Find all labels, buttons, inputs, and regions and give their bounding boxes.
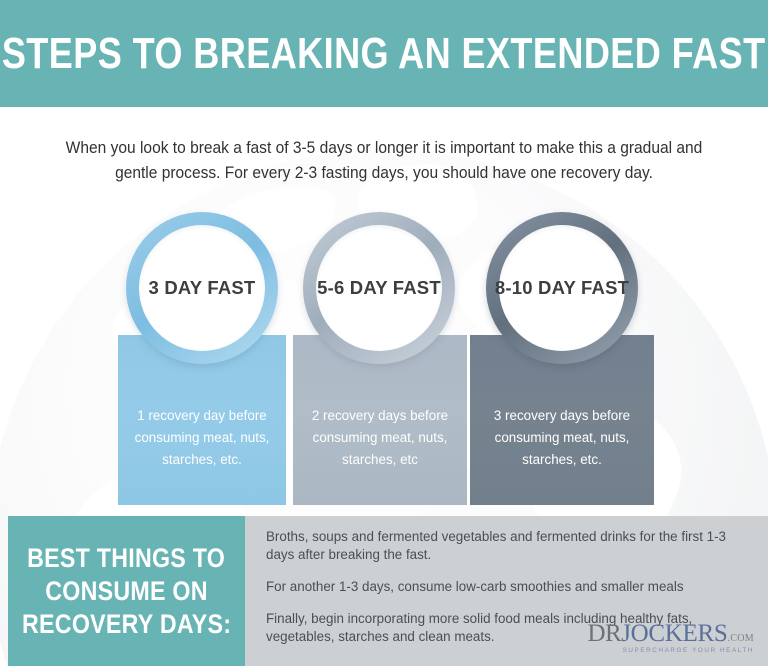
fast-circle-label: 3 DAY FAST bbox=[149, 277, 256, 299]
intro-paragraph: When you look to break a fast of 3-5 day… bbox=[48, 136, 720, 186]
fast-circle-8-10-day: 8-10 DAY FAST bbox=[486, 212, 638, 364]
recovery-text-line-3: starches, etc. bbox=[118, 449, 286, 471]
logo-ockers-text: OCKERS bbox=[631, 620, 728, 647]
header-banner: STEPS TO BREAKING AN EXTENDED FAST bbox=[0, 0, 768, 107]
best-things-heading-line-3: RECOVERY DAYS: bbox=[22, 608, 231, 641]
recovery-text-line-2: consuming meat, nuts, bbox=[470, 427, 654, 449]
fast-circle-3-day: 3 DAY FAST bbox=[126, 212, 278, 364]
recovery-text-line-3: starches, etc bbox=[293, 449, 467, 471]
fast-circle-label: 5-6 DAY FAST bbox=[317, 277, 441, 299]
best-things-heading-line-1: BEST THINGS TO bbox=[27, 542, 225, 575]
recovery-text-line-2: consuming meat, nuts, bbox=[118, 427, 286, 449]
fast-circle-inner: 8-10 DAY FAST bbox=[499, 225, 625, 351]
recovery-text-line-2: consuming meat, nuts, bbox=[293, 427, 467, 449]
fast-circle-inner: 3 DAY FAST bbox=[139, 225, 265, 351]
fast-circle-5-6-day: 5-6 DAY FAST bbox=[303, 212, 455, 364]
recovery-text-line-1: 1 recovery day before bbox=[118, 405, 286, 427]
logo-dr-text: D bbox=[587, 620, 605, 647]
recovery-text-line-1: 2 recovery days before bbox=[293, 405, 467, 427]
recovery-bullet-item: For another 1-3 days, consume low-carb s… bbox=[266, 578, 756, 596]
recovery-text-line-3: starches, etc. bbox=[470, 449, 654, 471]
fast-circle-inner: 5-6 DAY FAST bbox=[316, 225, 442, 351]
page-title: STEPS TO BREAKING AN EXTENDED FAST bbox=[2, 29, 766, 79]
drjockers-logo[interactable]: DRJOCKERS.COM SUPERCHARGE YOUR HEALTH bbox=[587, 621, 754, 654]
recovery-bullet-item: Broths, soups and fermented vegetables a… bbox=[266, 528, 756, 564]
infographic-canvas: STEPS TO BREAKING AN EXTENDED FAST When … bbox=[0, 0, 768, 666]
logo-j-text: J bbox=[621, 620, 630, 647]
best-things-heading-box: BEST THINGS TO CONSUME ON RECOVERY DAYS: bbox=[8, 516, 245, 666]
best-things-heading-line-2: CONSUME ON bbox=[45, 575, 208, 608]
logo-tagline: SUPERCHARGE YOUR HEALTH bbox=[587, 648, 754, 654]
logo-r-text: R bbox=[605, 620, 621, 647]
recovery-text-line-1: 3 recovery days before bbox=[470, 405, 654, 427]
logo-com-text: .COM bbox=[728, 633, 754, 644]
logo-wordmark: DRJOCKERS.COM bbox=[587, 621, 754, 646]
fast-circle-label: 8-10 DAY FAST bbox=[495, 277, 629, 299]
